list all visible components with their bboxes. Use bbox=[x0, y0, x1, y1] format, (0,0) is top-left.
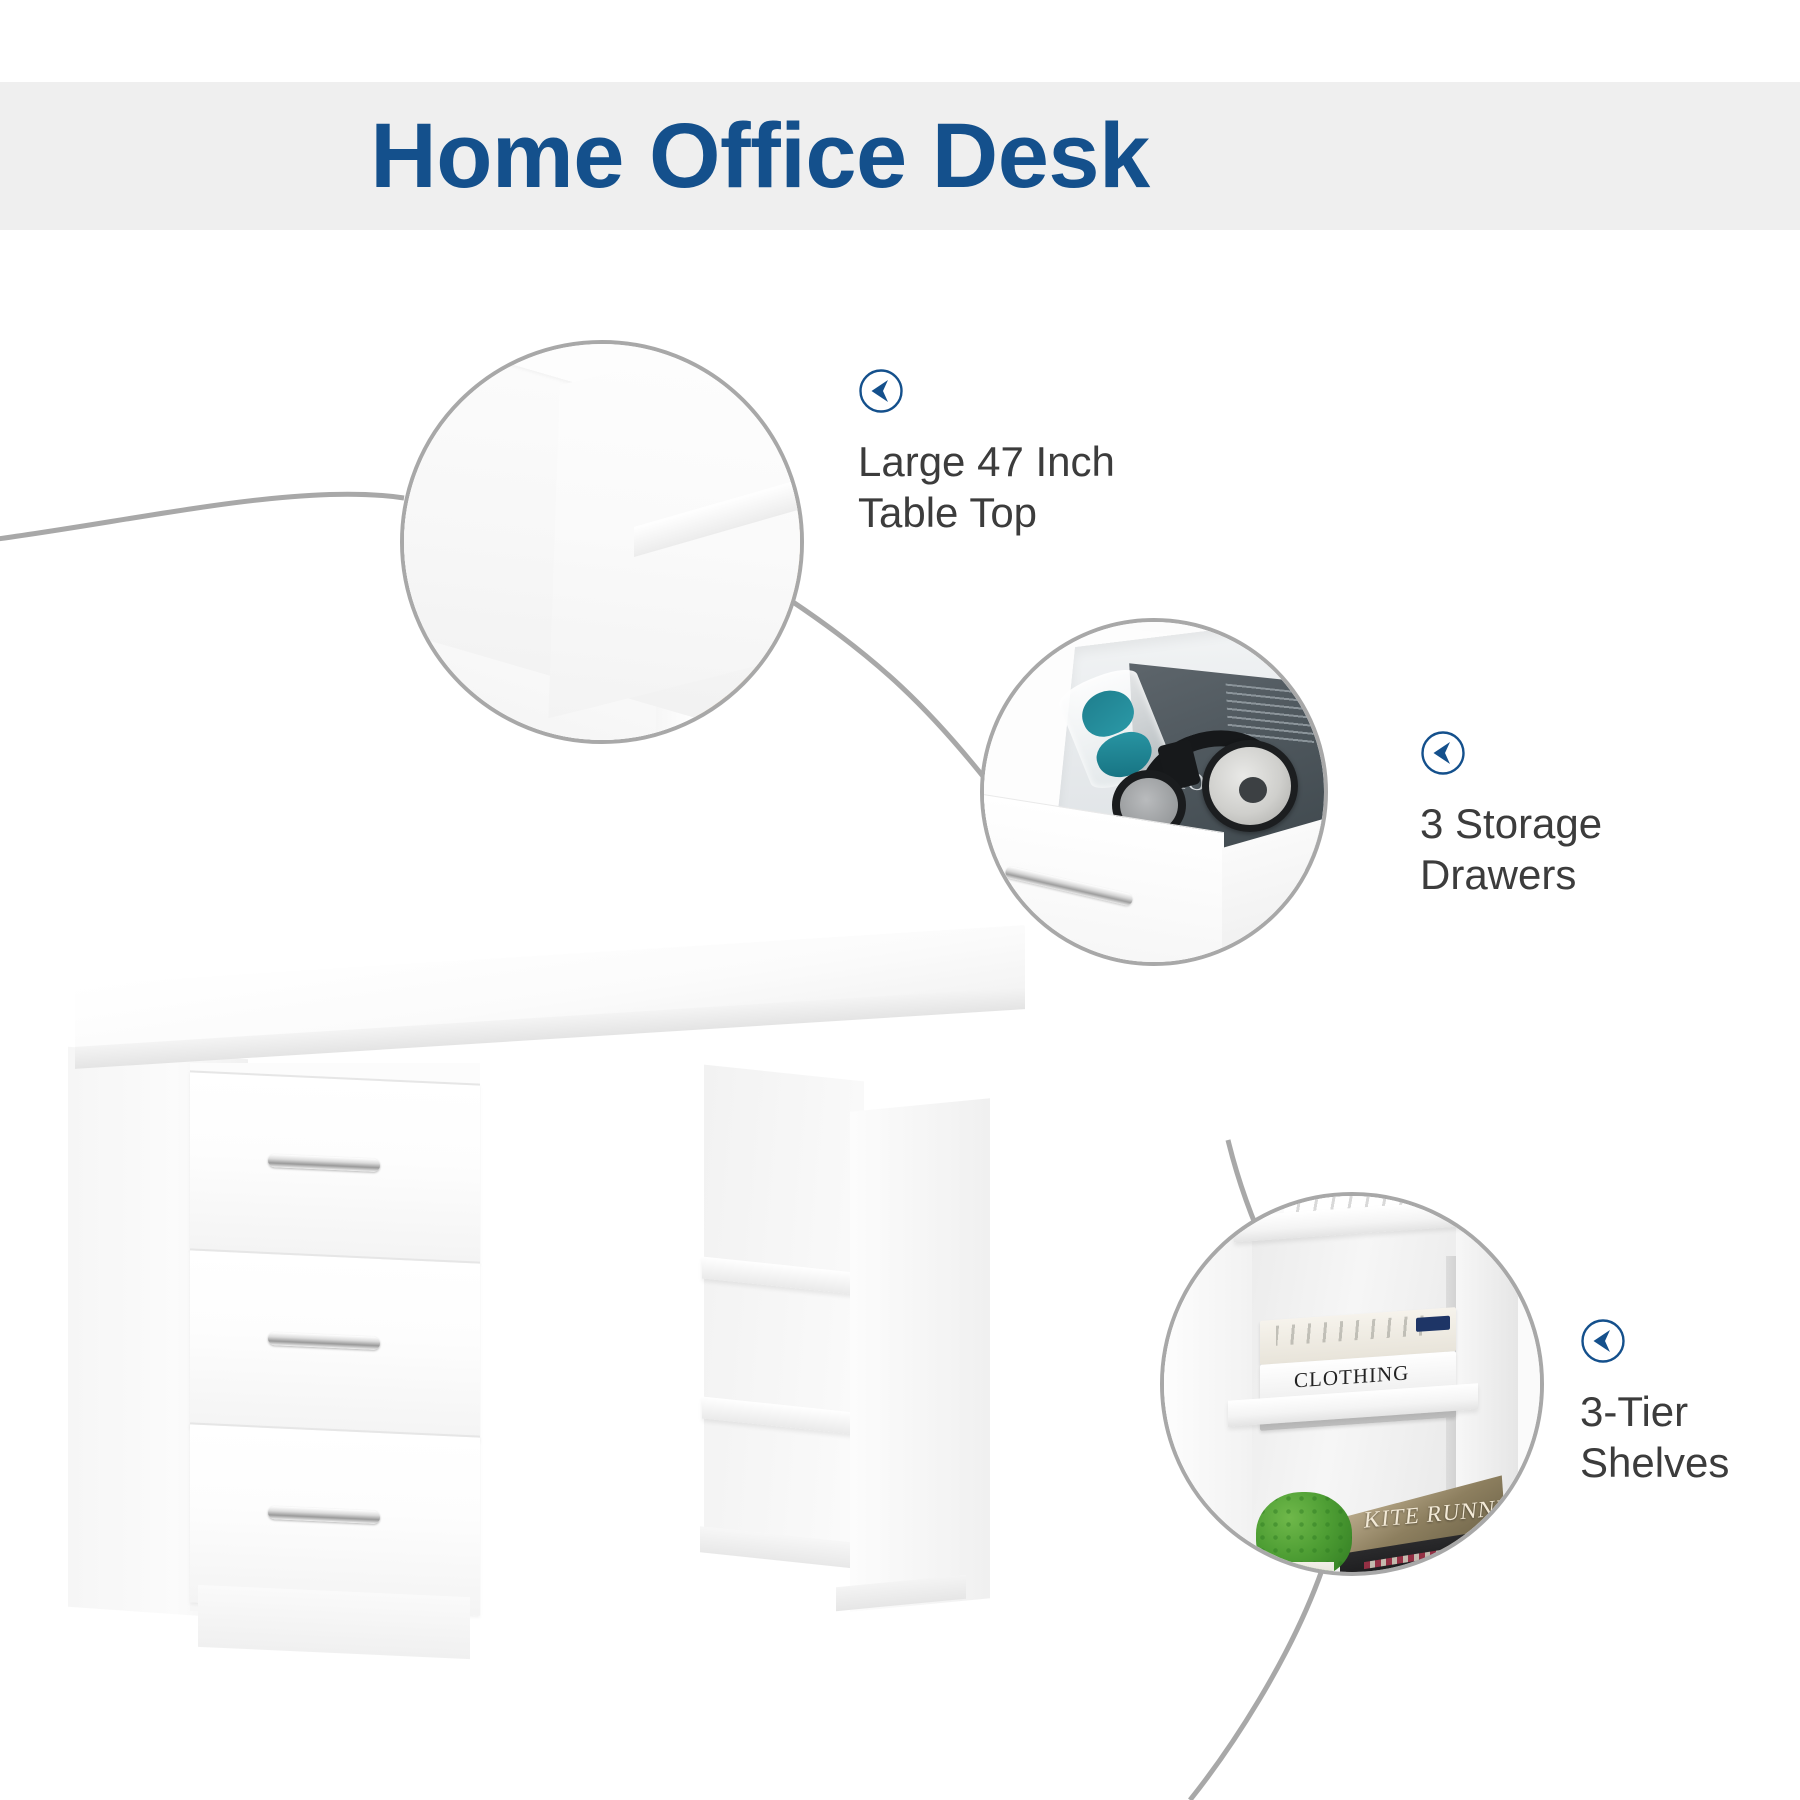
callout-table-top-label: Large 47 Inch Table Top bbox=[858, 436, 1115, 538]
desk-drawer-pull-2 bbox=[268, 1332, 380, 1350]
headphones-earcup-right bbox=[1202, 740, 1298, 832]
screw-upper bbox=[1284, 928, 1297, 948]
desk-drawer-pull-3 bbox=[268, 1506, 380, 1524]
inset-photo-drawer: NTIQUE bbox=[980, 618, 1328, 966]
circled-left-arrow-icon bbox=[1580, 1318, 1626, 1364]
desk-plinth bbox=[198, 1585, 470, 1659]
desk-shelf-unit bbox=[690, 1065, 1000, 1625]
inset-photo-table-top bbox=[400, 340, 804, 744]
callout-table-top: Large 47 Inch Table Top bbox=[858, 368, 1115, 538]
callout-storage-drawers-label: 3 Storage Drawers bbox=[1420, 798, 1602, 900]
callout-storage-drawers: 3 Storage Drawers bbox=[1420, 730, 1602, 900]
desk-drawer-1 bbox=[190, 1070, 480, 1263]
desk-drawer-2 bbox=[190, 1248, 480, 1441]
book-clothing-title: CLOTHING bbox=[1294, 1360, 1409, 1393]
callout-tier-shelves-label: 3-Tier Shelves bbox=[1580, 1386, 1729, 1488]
connector-shelves-to-bottom bbox=[1190, 1570, 1322, 1800]
desk-drawer-pull-1 bbox=[268, 1154, 380, 1172]
product-photo-desk bbox=[30, 955, 1085, 1675]
connector-left-to-tabletop bbox=[0, 494, 404, 540]
circled-left-arrow-icon bbox=[858, 368, 904, 414]
connector-tabletop-to-drawer bbox=[790, 600, 986, 780]
callout-tier-shelves: 3-Tier Shelves bbox=[1580, 1318, 1729, 1488]
inset-photo-shelves: CLOTHING HOME DESIGN KITE RUNNER bbox=[1160, 1192, 1544, 1576]
circled-left-arrow-icon bbox=[1420, 730, 1466, 776]
